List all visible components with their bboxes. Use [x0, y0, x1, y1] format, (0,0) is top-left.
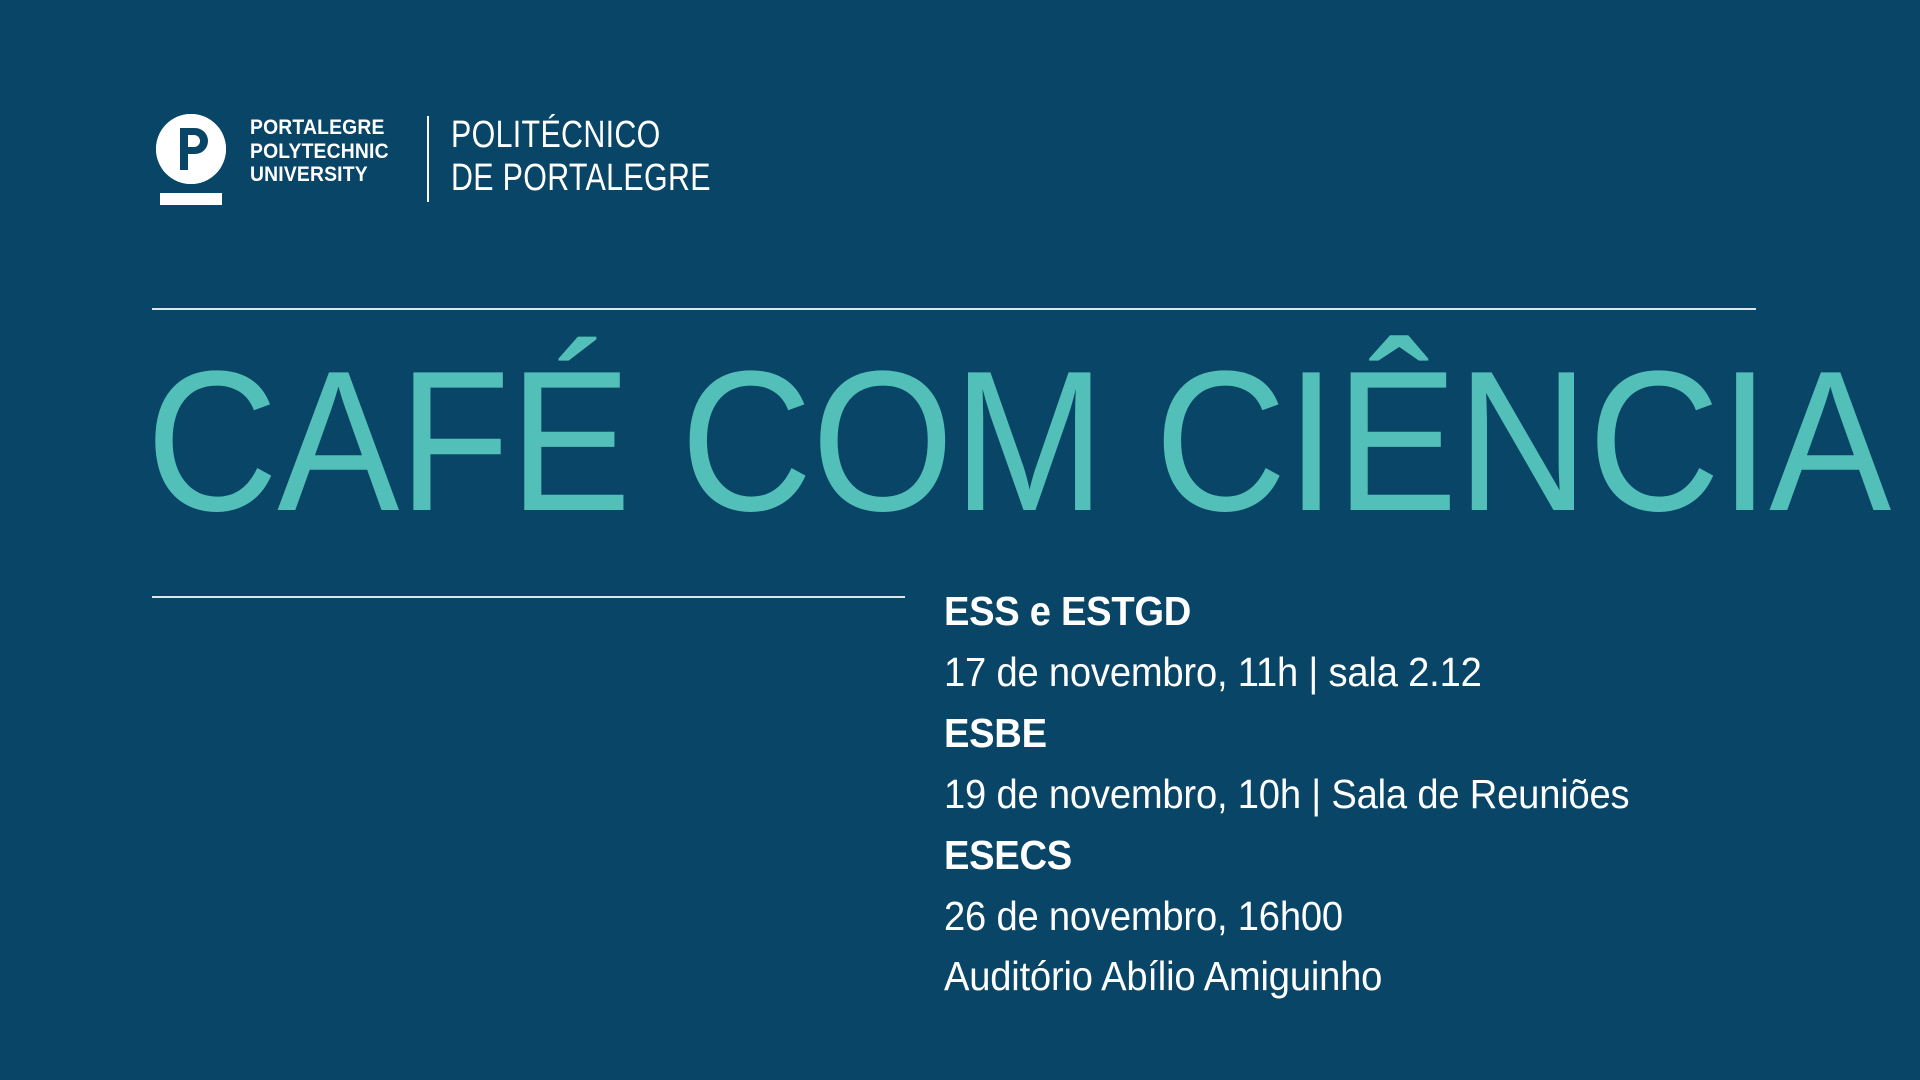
logo-name-english: PORTALEGRE POLYTECHNIC UNIVERSITY [250, 112, 389, 187]
event-detail-1: 17 de novembro, 11h | sala 2.12 [944, 642, 1781, 702]
institution-logo: PORTALEGRE POLYTECHNIC UNIVERSITY POLITÉ… [152, 112, 776, 205]
event-name: ESBE [944, 702, 1781, 764]
event-detail-2: Auditório Abílio Amiguinho [944, 946, 1781, 1006]
event-item: ESBE 19 de novembro, 10h | Sala de Reuni… [944, 702, 1844, 824]
event-item: ESECS 26 de novembro, 16h00 Auditório Ab… [944, 824, 1844, 1006]
logo-en-line-3: UNIVERSITY [250, 163, 389, 187]
event-detail-1: 19 de novembro, 10h | Sala de Reuniões [944, 764, 1781, 824]
logo-mark [152, 112, 230, 205]
event-name: ESS e ESTGD [944, 580, 1781, 642]
poster-title: CAFÉ COM CIÊNCIA [146, 342, 1647, 542]
logo-en-line-1: PORTALEGRE [250, 116, 389, 140]
logo-pt-line-2: DE PORTALEGRE [451, 157, 711, 200]
logo-underbar [160, 193, 222, 205]
divider-rule-middle [152, 596, 905, 598]
logo-name-portuguese: POLITÉCNICO DE PORTALEGRE [451, 112, 711, 200]
event-schedule-list: ESS e ESTGD 17 de novembro, 11h | sala 2… [944, 580, 1844, 1006]
poster-canvas: PORTALEGRE POLYTECHNIC UNIVERSITY POLITÉ… [0, 0, 1920, 1080]
event-detail-1: 26 de novembro, 16h00 [944, 886, 1781, 946]
logo-circle-p-icon [156, 114, 226, 184]
logo-pt-line-1: POLITÉCNICO [451, 114, 711, 157]
logo-divider [427, 116, 429, 202]
divider-rule-top [152, 308, 1756, 310]
event-name: ESECS [944, 824, 1781, 886]
event-item: ESS e ESTGD 17 de novembro, 11h | sala 2… [944, 580, 1844, 702]
logo-en-line-2: POLYTECHNIC [250, 140, 389, 164]
